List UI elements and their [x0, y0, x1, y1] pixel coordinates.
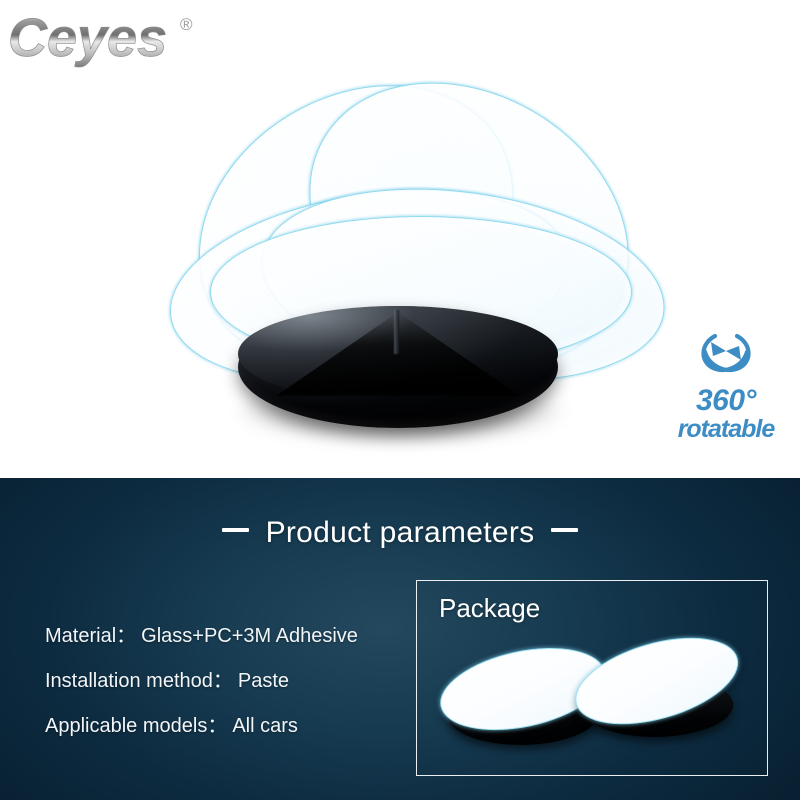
- package-item: [572, 642, 744, 749]
- spec-row: Installation method：Paste: [45, 671, 405, 691]
- spec-list: Material：Glass+PC+3M Adhesive Installati…: [45, 626, 405, 761]
- spec-row: Material：Glass+PC+3M Adhesive: [45, 626, 405, 646]
- brand-logo: Ceyes ®: [8, 8, 218, 70]
- product-marketing-page: Ceyes ® 360°: [0, 0, 800, 800]
- rotation-arrows-icon: [695, 322, 757, 380]
- product-illustration: [150, 88, 710, 468]
- spec-label: Applicable models：: [45, 715, 227, 737]
- badge-degrees: 360°: [660, 386, 792, 416]
- hero-section: Ceyes ® 360°: [0, 0, 800, 478]
- title-dash-right: [551, 528, 578, 532]
- section-title: Product parameters: [0, 516, 800, 550]
- package-label: Package: [439, 595, 540, 621]
- spec-value: Paste: [238, 670, 289, 692]
- spec-label: Installation method：: [45, 670, 233, 692]
- spec-value: Glass+PC+3M Adhesive: [141, 625, 358, 647]
- package-panel: Package: [416, 580, 768, 776]
- badge-label: rotatable: [660, 416, 792, 443]
- logo-wordmark: Ceyes: [8, 8, 167, 68]
- spec-value: All cars: [232, 715, 298, 737]
- rotatable-badge: 360° rotatable: [660, 322, 792, 448]
- spec-row: Applicable models：All cars: [45, 716, 405, 736]
- registered-trademark-icon: ®: [180, 15, 193, 34]
- section-title-text: Product parameters: [266, 516, 535, 549]
- title-dash-left: [222, 528, 249, 532]
- spec-label: Material：: [45, 625, 136, 647]
- rotation-spindle: [394, 310, 399, 354]
